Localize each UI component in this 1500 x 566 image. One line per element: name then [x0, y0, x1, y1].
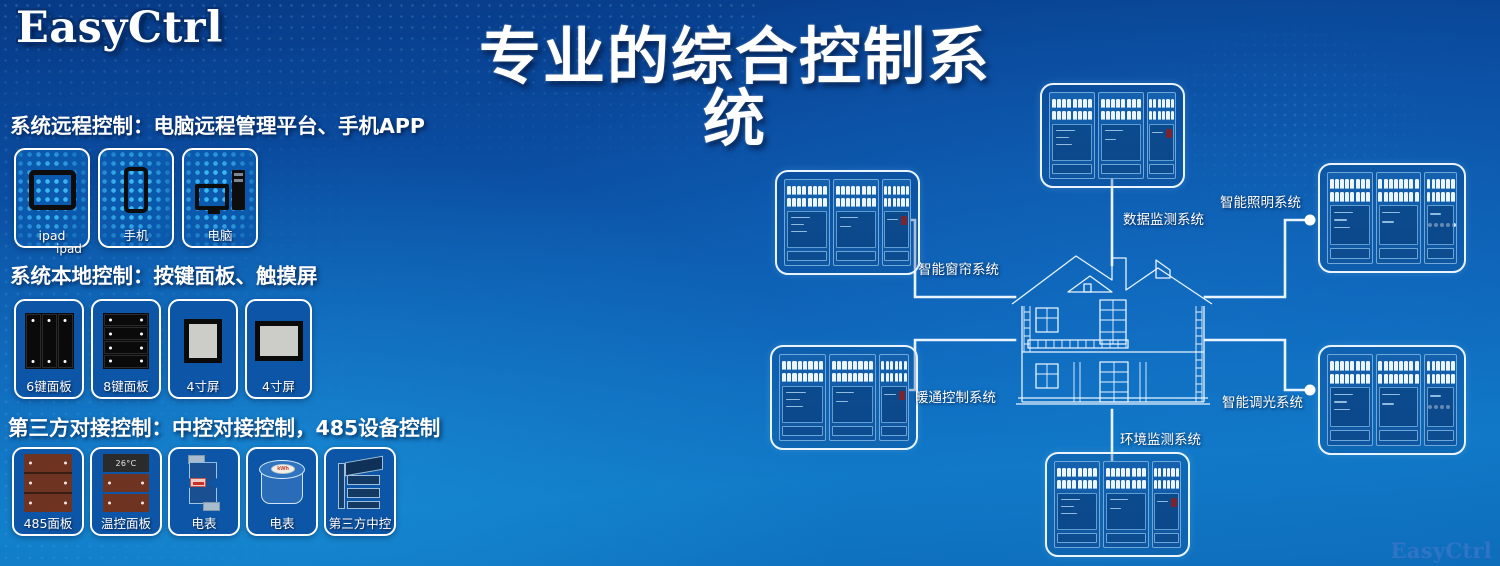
din-rail-module — [1424, 172, 1457, 264]
brand-logo: EasyCtrl — [16, 3, 223, 53]
device-card-485-panel[interactable]: 485面板 — [12, 447, 84, 536]
device-card-label: 温控面板 — [101, 517, 151, 531]
device-card-label: 4寸屏 — [187, 380, 220, 394]
din-module-group — [1049, 92, 1176, 179]
watermark-logo: EasyCtrl — [1391, 538, 1493, 563]
din-rail-module — [1327, 354, 1373, 446]
din-module-group — [1327, 172, 1457, 264]
din-module-group — [1054, 461, 1181, 548]
device-card-label: 电脑 — [207, 229, 232, 243]
section-heading-local-control: 系统本地控制：按键面板、触摸屏 — [10, 259, 318, 289]
device-card-computer[interactable]: 电脑 — [182, 148, 258, 248]
din-module-group — [1327, 354, 1457, 446]
device-row-third-party: 485面板 26°C 温控面板 电表 kWh — [12, 447, 396, 536]
module-frame-smart-curtain[interactable] — [775, 170, 920, 275]
energy-meter-icon — [170, 449, 238, 517]
device-card-ipad[interactable]: ipad — [14, 148, 90, 248]
device-card-label: 第三方中控 — [329, 517, 392, 531]
module-frame-data-monitoring[interactable] — [1040, 83, 1185, 188]
module-frame-environment-monitoring[interactable] — [1045, 452, 1190, 557]
device-card-label: 电表 — [269, 517, 294, 531]
six-key-panel-icon — [16, 301, 82, 380]
din-rail-module — [879, 354, 909, 441]
device-card-thermostat-panel[interactable]: 26°C 温控面板 — [90, 447, 162, 536]
node-label-data-monitoring: 数据监测系统 — [1123, 208, 1204, 228]
device-card-8key-panel[interactable]: 8键面板 — [91, 299, 161, 399]
din-rail-module — [779, 354, 826, 441]
din-rail-module — [829, 354, 876, 441]
smartphone-icon — [100, 150, 172, 229]
din-rail-module — [1103, 461, 1149, 548]
din-rail-module — [1376, 354, 1422, 446]
node-label-hvac-control: 暖通控制系统 — [915, 386, 996, 406]
node-label-smart-curtain: 智能窗帘系统 — [918, 258, 999, 278]
device-card-energy-meter-b[interactable]: kWh 电表 — [246, 447, 318, 536]
module-frame-smart-dimming[interactable] — [1318, 345, 1466, 455]
device-card-third-party-controller[interactable]: 第三方中控 — [324, 447, 396, 536]
device-card-label: 4寸屏 — [262, 380, 295, 394]
din-module-group — [779, 354, 909, 441]
third-party-controller-icon — [326, 449, 394, 517]
section-heading-remote-control: 系统远程控制：电脑远程管理平台、手机APP — [10, 109, 425, 139]
din-rail-module — [1327, 172, 1373, 264]
module-frame-hvac-control[interactable] — [770, 345, 918, 450]
four-inch-screen-icon — [170, 301, 236, 380]
din-rail-module — [833, 179, 879, 266]
device-card-6key-panel[interactable]: 6键面板 — [14, 299, 84, 399]
poster-canvas: EasyCtrl 专业的综合控制系统 系统远程控制：电脑远程管理平台、手机APP… — [0, 0, 1500, 566]
device-card-label: ipad — [38, 229, 65, 243]
eight-key-panel-icon — [93, 301, 159, 380]
desktop-computer-icon — [184, 150, 256, 229]
rs485-panel-icon — [14, 449, 82, 517]
device-card-energy-meter-a[interactable]: 电表 — [168, 447, 240, 536]
din-rail-module — [1049, 92, 1095, 179]
stray-ipad-label: ipad — [56, 242, 82, 256]
din-rail-module — [1376, 172, 1422, 264]
din-rail-module — [1424, 354, 1457, 446]
din-rail-module — [1054, 461, 1100, 548]
device-row-local-control: 6键面板 8键面板 4寸屏 4寸屏 — [14, 299, 312, 399]
din-rail-module — [784, 179, 830, 266]
din-module-group — [784, 179, 911, 266]
section-heading-third-party-control: 第三方对接控制：中控对接控制，485设备控制 — [8, 411, 440, 441]
device-card-label: 6键面板 — [26, 380, 71, 394]
device-row-remote-control: ipad 手机 电脑 — [14, 148, 258, 248]
thermostat-panel-icon: 26°C — [92, 449, 160, 517]
device-card-label: 485面板 — [24, 517, 73, 531]
device-card-label: 8键面板 — [103, 380, 148, 394]
din-rail-module — [1147, 92, 1176, 179]
device-card-phone[interactable]: 手机 — [98, 148, 174, 248]
device-card-4inch-screen-b[interactable]: 4寸屏 — [245, 299, 312, 399]
device-card-label: 手机 — [123, 229, 148, 243]
module-frame-smart-lighting[interactable] — [1318, 163, 1466, 273]
device-card-4inch-screen-a[interactable]: 4寸屏 — [168, 299, 238, 399]
node-label-smart-dimming: 智能调光系统 — [1222, 391, 1303, 411]
four-inch-screen-wide-icon — [247, 301, 310, 380]
round-energy-meter-icon: kWh — [248, 449, 316, 517]
din-rail-module — [1098, 92, 1144, 179]
din-rail-module — [882, 179, 911, 266]
house-illustration — [1008, 248, 1216, 410]
node-label-smart-lighting: 智能照明系统 — [1220, 191, 1301, 211]
thermostat-temperature-display: 26°C — [103, 454, 149, 472]
tablet-icon — [16, 150, 88, 229]
node-label-environment-monitoring: 环境监测系统 — [1120, 428, 1201, 448]
device-card-label: 电表 — [191, 517, 216, 531]
din-rail-module — [1152, 461, 1181, 548]
